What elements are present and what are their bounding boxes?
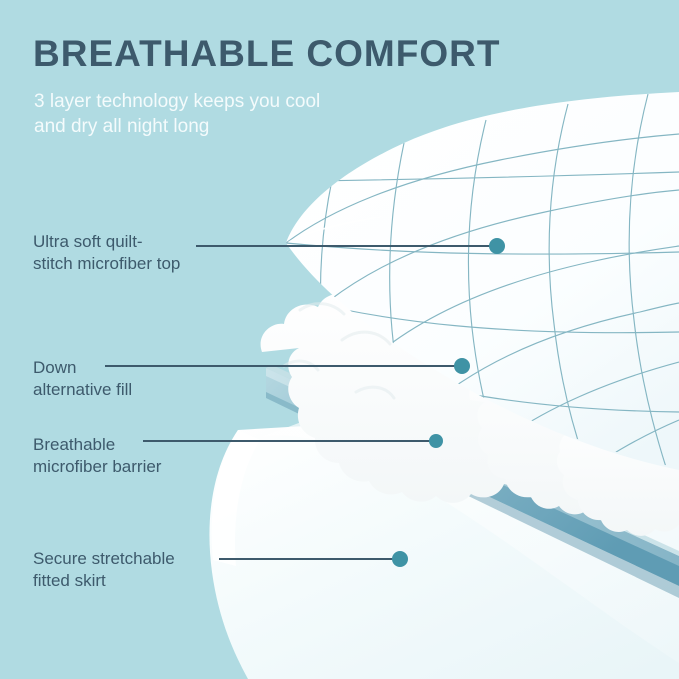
callout-label-fitted-skirt: Secure stretchable fitted skirt (33, 548, 175, 592)
callout-label-quilt-top: Ultra soft quilt- stitch microfiber top (33, 231, 180, 275)
callout-label-microfiber-barrier: Breathable microfiber barrier (33, 434, 161, 478)
infographic-panel: BREATHABLE COMFORT 3 layer technology ke… (0, 0, 679, 679)
callout-label-down-fill: Down alternative fill (33, 357, 132, 401)
text-layer: BREATHABLE COMFORT 3 layer technology ke… (0, 0, 679, 679)
page-subtitle: 3 layer technology keeps you cool and dr… (34, 89, 320, 139)
page-title: BREATHABLE COMFORT (33, 33, 500, 75)
